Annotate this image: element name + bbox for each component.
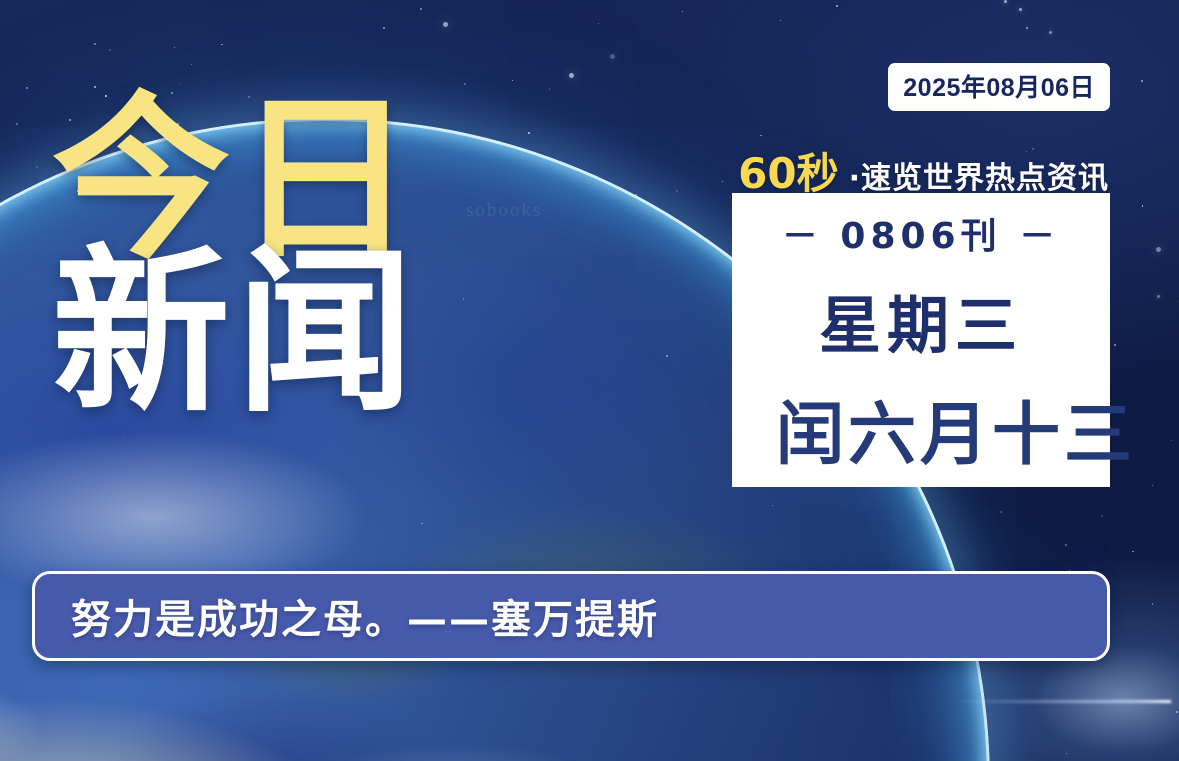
headline: 今日 新闻 [52,96,420,417]
headline-line-news: 新闻 [52,249,420,416]
tagline-rest: ·速览世界热点资讯 [849,153,1109,197]
tagline-highlight: 60秒 [738,140,838,201]
lunar-date: 闰六月十三 [776,379,1136,478]
tagline: 60秒 ·速览世界热点资讯 [738,140,1109,201]
watermark-text: sobooks [466,200,542,222]
quote-bar: 努力是成功之母。——塞万提斯 [32,571,1110,661]
date-badge: 2025年08月06日 [888,63,1110,111]
quote-text: 努力是成功之母。——塞万提斯 [71,587,659,645]
lens-flare-streak [951,700,1171,703]
poster-canvas: sobooks 今日 新闻 2025年08月06日 60秒 ·速览世界热点资讯 … [0,0,1179,761]
weekday-label: 星期三 [819,275,1023,365]
info-card: － 0806刊 － 星期三 闰六月十三 [732,193,1110,487]
issue-number: － 0806刊 － [782,207,1060,259]
